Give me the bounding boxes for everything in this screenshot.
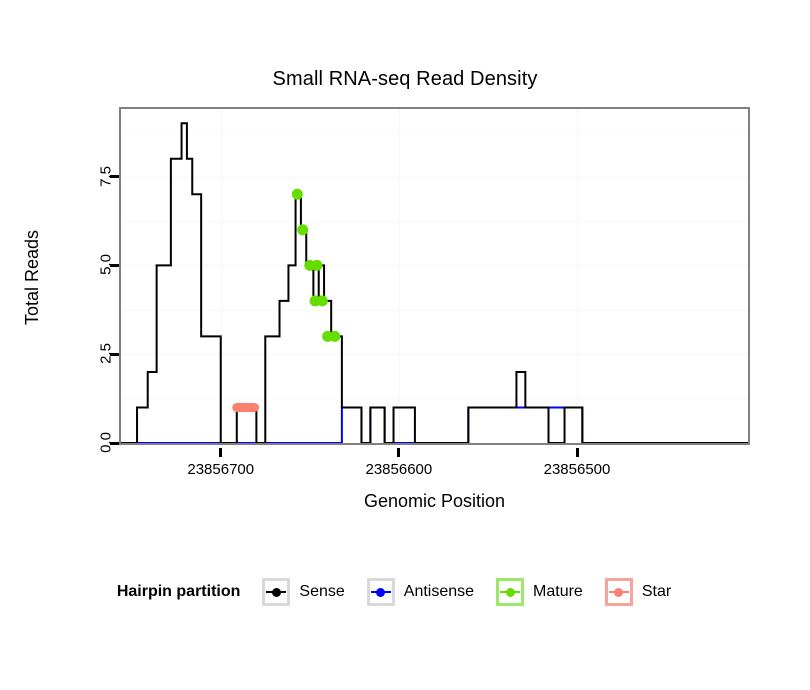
- legend: Hairpin partition SenseAntisenseMatureSt…: [0, 578, 810, 606]
- legend-label-star: Star: [642, 583, 671, 601]
- x-tick-label: 23856600: [366, 461, 433, 478]
- legend-key-dot: [506, 588, 515, 597]
- plot-panel: [119, 107, 750, 445]
- legend-key-star: [605, 578, 633, 606]
- x-axis-title: Genomic Position: [119, 491, 750, 512]
- y-tick-label: 5.0: [98, 254, 115, 275]
- x-tick-mark: [219, 448, 222, 457]
- legend-key-dot: [376, 588, 385, 597]
- legend-label-antisense: Antisense: [404, 583, 474, 601]
- legend-key-sense: [262, 578, 290, 606]
- legend-item-sense[interactable]: Sense: [262, 578, 356, 606]
- x-tick-label: 23856700: [187, 461, 254, 478]
- legend-key-antisense: [367, 578, 395, 606]
- legend-item-mature[interactable]: Mature: [496, 578, 595, 606]
- y-axis: 0.02.55.07.5 Total Reads: [0, 107, 119, 445]
- x-axis: 238567002385660023856500 Genomic Positio…: [119, 445, 750, 525]
- plot-series-layer: [121, 109, 748, 443]
- panel-background: [121, 109, 748, 443]
- legend-title: Hairpin partition: [117, 583, 241, 601]
- annotation-mature-point: [317, 295, 328, 306]
- x-tick-mark: [397, 448, 400, 457]
- series-line-antisense: [121, 407, 748, 443]
- legend-item-star[interactable]: Star: [605, 578, 683, 606]
- legend-key-mature: [496, 578, 524, 606]
- annotation-mature-point: [311, 260, 322, 271]
- annotation-mature-point: [329, 331, 340, 342]
- legend-items: SenseAntisenseMatureStar: [262, 578, 693, 606]
- chart-root: Small RNA-seq Read Density 0.02.55.07.5 …: [0, 0, 810, 690]
- legend-key-dot: [272, 588, 281, 597]
- x-tick-mark: [576, 448, 579, 457]
- y-tick-label: 7.5: [98, 166, 115, 187]
- legend-label-sense: Sense: [299, 583, 344, 601]
- x-tick-label: 23856500: [544, 461, 611, 478]
- y-tick-label: 0.0: [98, 432, 115, 453]
- legend-label-mature: Mature: [533, 583, 583, 601]
- legend-key-dot: [614, 588, 623, 597]
- y-tick-label: 2.5: [98, 343, 115, 364]
- y-axis-title: Total Reads: [22, 230, 43, 325]
- annotation-mature-point: [297, 224, 308, 235]
- chart-title: Small RNA-seq Read Density: [0, 68, 810, 91]
- annotation-mature-point: [292, 189, 303, 200]
- legend-item-antisense[interactable]: Antisense: [367, 578, 486, 606]
- gridline-horizontal: [121, 443, 748, 444]
- series-line-sense: [121, 123, 748, 443]
